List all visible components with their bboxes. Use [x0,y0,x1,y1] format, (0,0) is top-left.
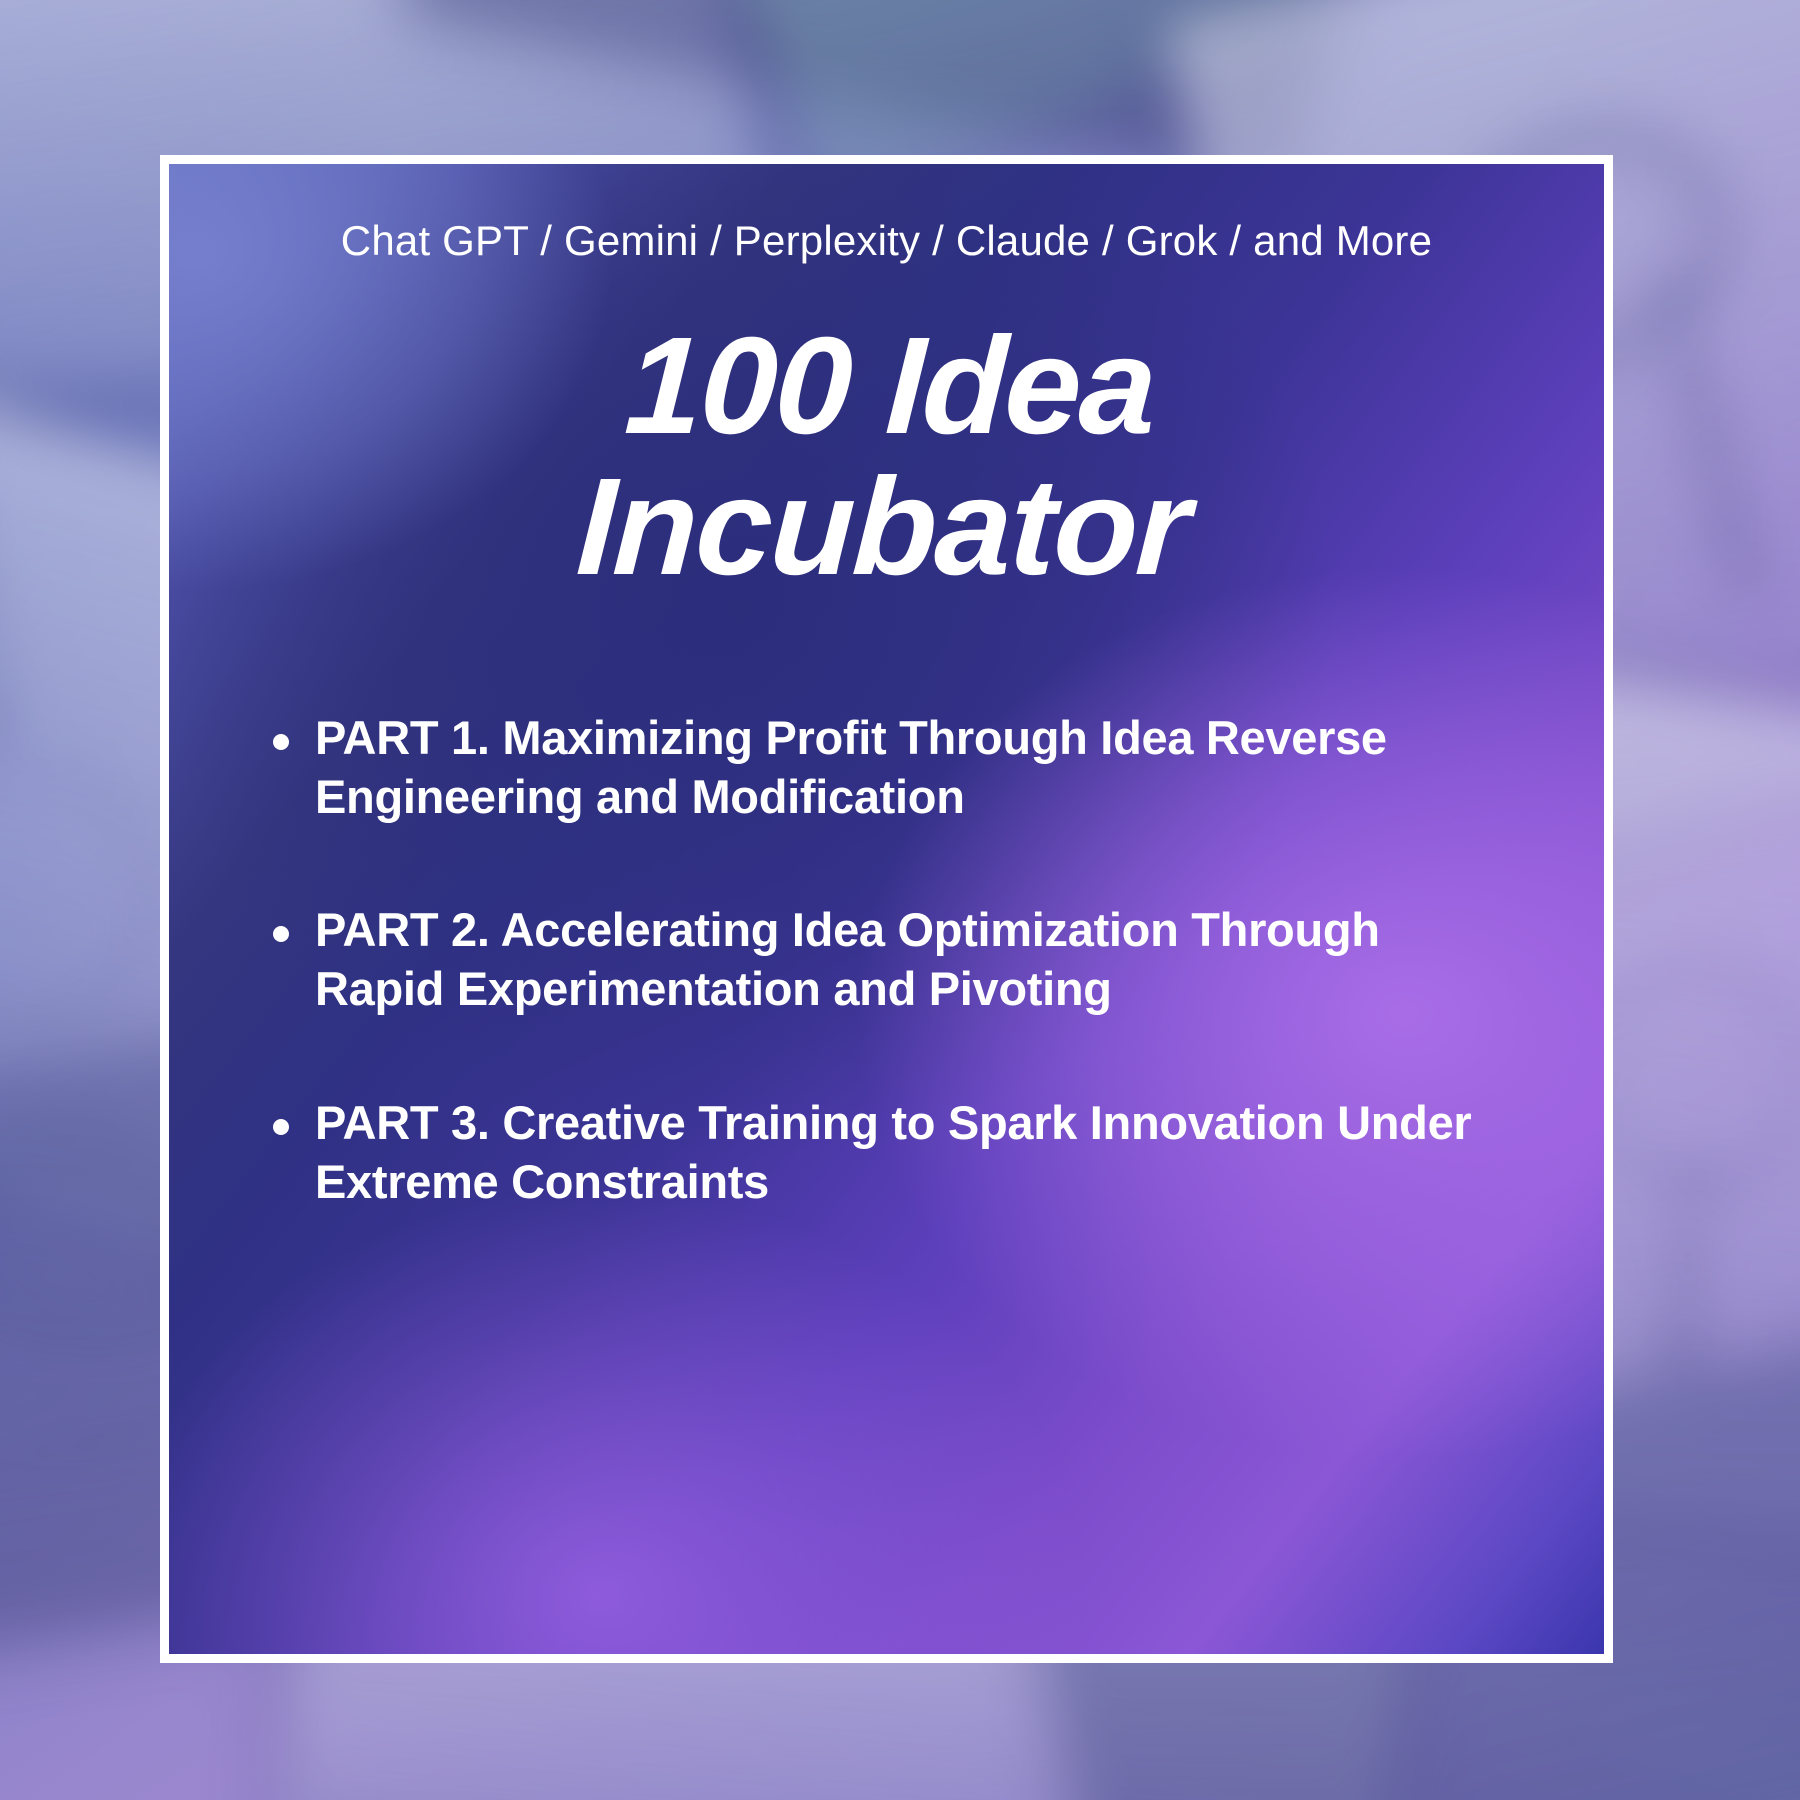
poster-card-frame: Chat GPT / Gemini / Perplexity / Claude … [160,155,1613,1663]
parts-list: PART 1. Maximizing Profit Through Idea R… [231,708,1542,1211]
bullet-dot-icon [273,734,289,750]
list-item: PART 3. Creative Training to Spark Innov… [273,1093,1516,1211]
poster-card: Chat GPT / Gemini / Perplexity / Claude … [169,164,1604,1654]
bullet-dot-icon [273,1119,289,1135]
list-item-label: PART 2. Accelerating Idea Optimization T… [315,900,1516,1018]
bullet-dot-icon [273,926,289,942]
ai-models-eyebrow: Chat GPT / Gemini / Perplexity / Claude … [231,218,1542,264]
list-item-label: PART 3. Creative Training to Spark Innov… [315,1093,1516,1211]
page-title-line-1: 100 Idea [231,316,1549,457]
list-item-label: PART 1. Maximizing Profit Through Idea R… [315,708,1516,826]
list-item: PART 1. Maximizing Profit Through Idea R… [273,708,1516,826]
card-content: Chat GPT / Gemini / Perplexity / Claude … [169,164,1604,1654]
page-title: 100 Idea Incubator [224,316,1550,598]
page-title-line-2: Incubator [224,457,1542,598]
banknote-seal [1580,960,1800,1190]
poster: 951120 5983846 A E 6798 Chat GPT / Gemin… [0,0,1800,1800]
list-item: PART 2. Accelerating Idea Optimization T… [273,900,1516,1018]
